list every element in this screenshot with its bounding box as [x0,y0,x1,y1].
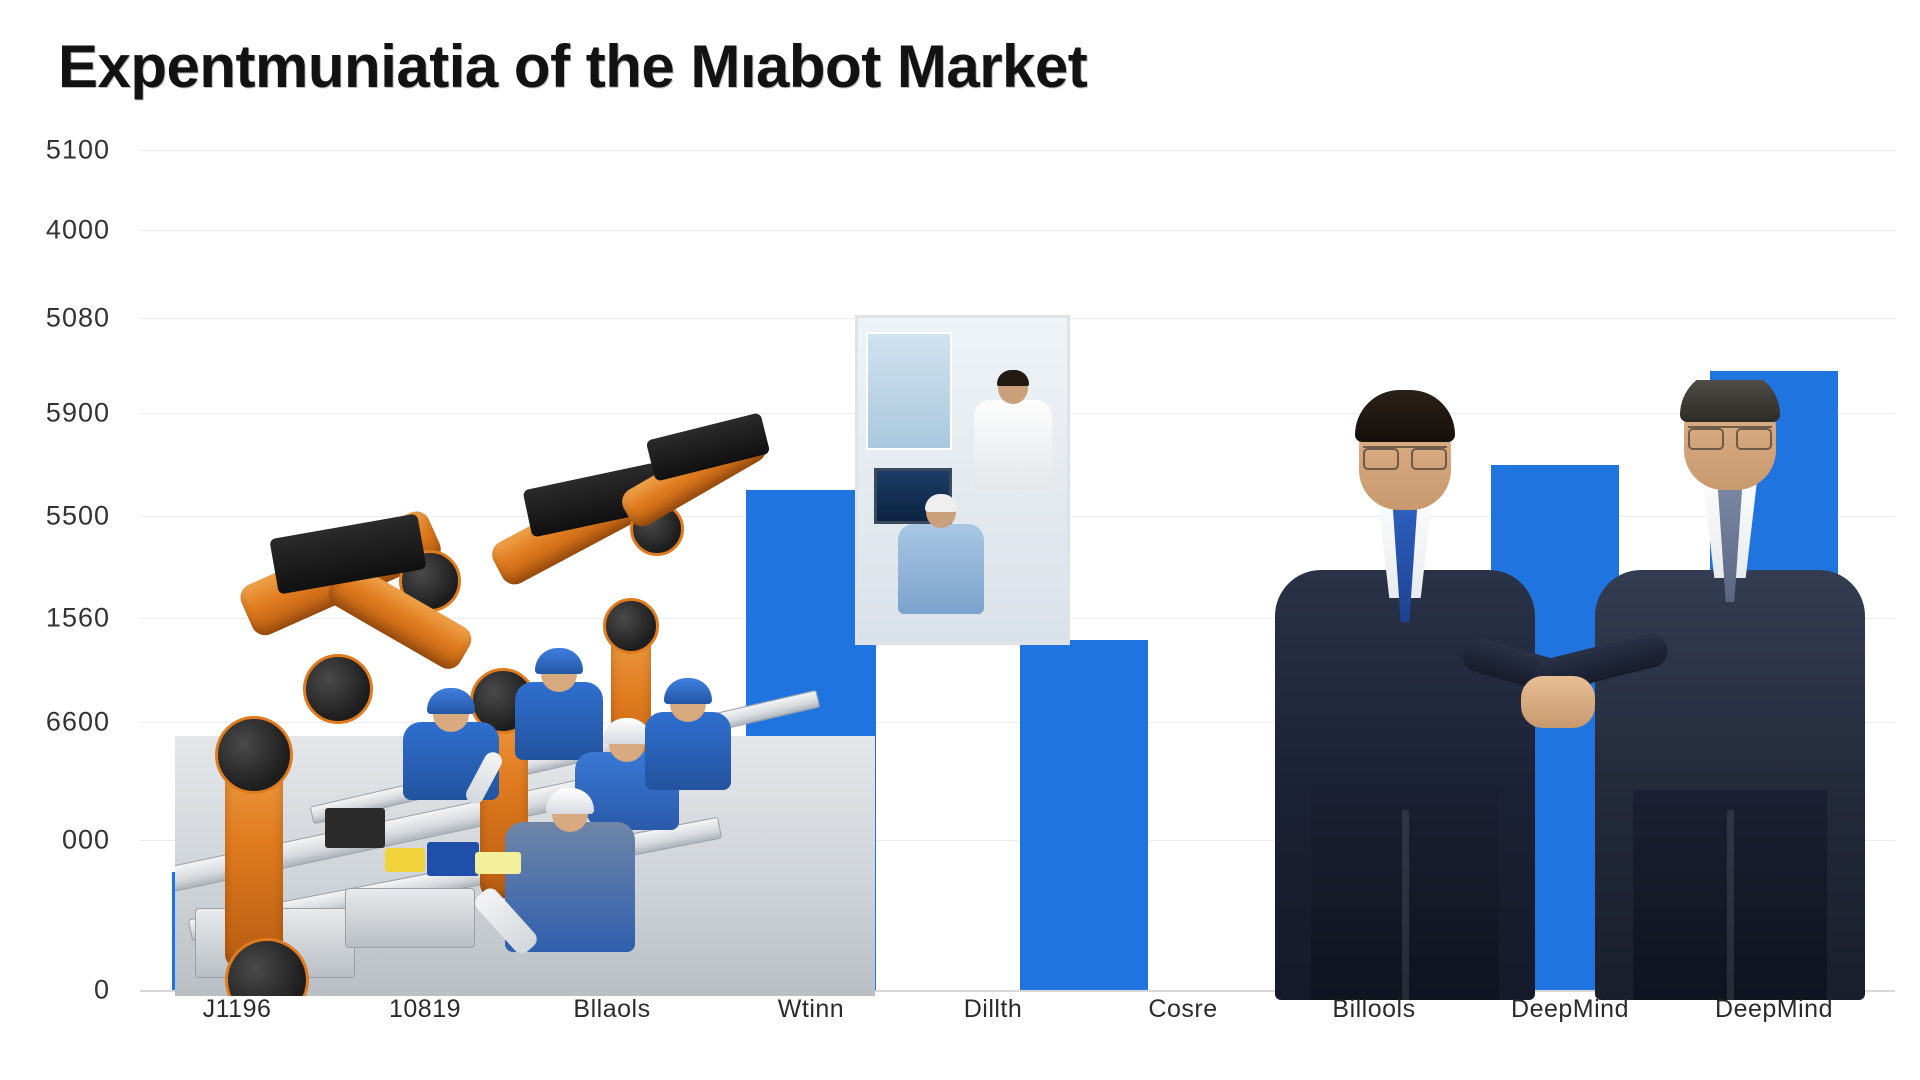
y-tick-label: 5080 [0,303,110,334]
x-tick-label: DeepMind [1715,995,1833,1024]
page-title: Expentmuniatia of the Mıabot Market [58,32,1087,101]
bar-cosre[interactable] [1020,640,1148,990]
x-tick-label: Wtinn [778,995,844,1024]
robotic-assembly-line-image [175,248,875,996]
y-tick-label: 6600 [0,707,110,738]
gridline [140,230,1895,231]
x-tick-label: Bllaols [573,995,650,1024]
businessmen-handshake-image [1255,380,1875,1000]
y-tick-label: 4000 [0,215,110,246]
x-tick-label: Dillth [964,995,1023,1024]
y-tick-label: 1560 [0,603,110,634]
x-axis: J1196 10819 Bllaols Wtinn Dillth Cosre B… [140,995,1900,1045]
gridline [140,150,1895,151]
chart-canvas: Expentmuniatia of the Mıabot Market 5100… [0,0,1920,1080]
y-tick-label: 5100 [0,135,110,166]
x-tick-label: DeepMind [1511,995,1629,1024]
y-tick-label: 0 [0,975,110,1006]
x-tick-label: Cosre [1148,995,1217,1024]
businessman-right [1595,380,1865,1000]
y-tick-label: 5900 [0,398,110,429]
businessman-left [1275,380,1535,1000]
office-room-inset-image [855,315,1070,645]
y-tick-label: 5500 [0,501,110,532]
y-tick-label: 000 [0,825,110,856]
handshake-hands [1521,676,1595,728]
x-tick-label: Billools [1332,995,1415,1024]
x-tick-label: 10819 [389,995,461,1024]
x-tick-label: J1196 [203,995,272,1024]
